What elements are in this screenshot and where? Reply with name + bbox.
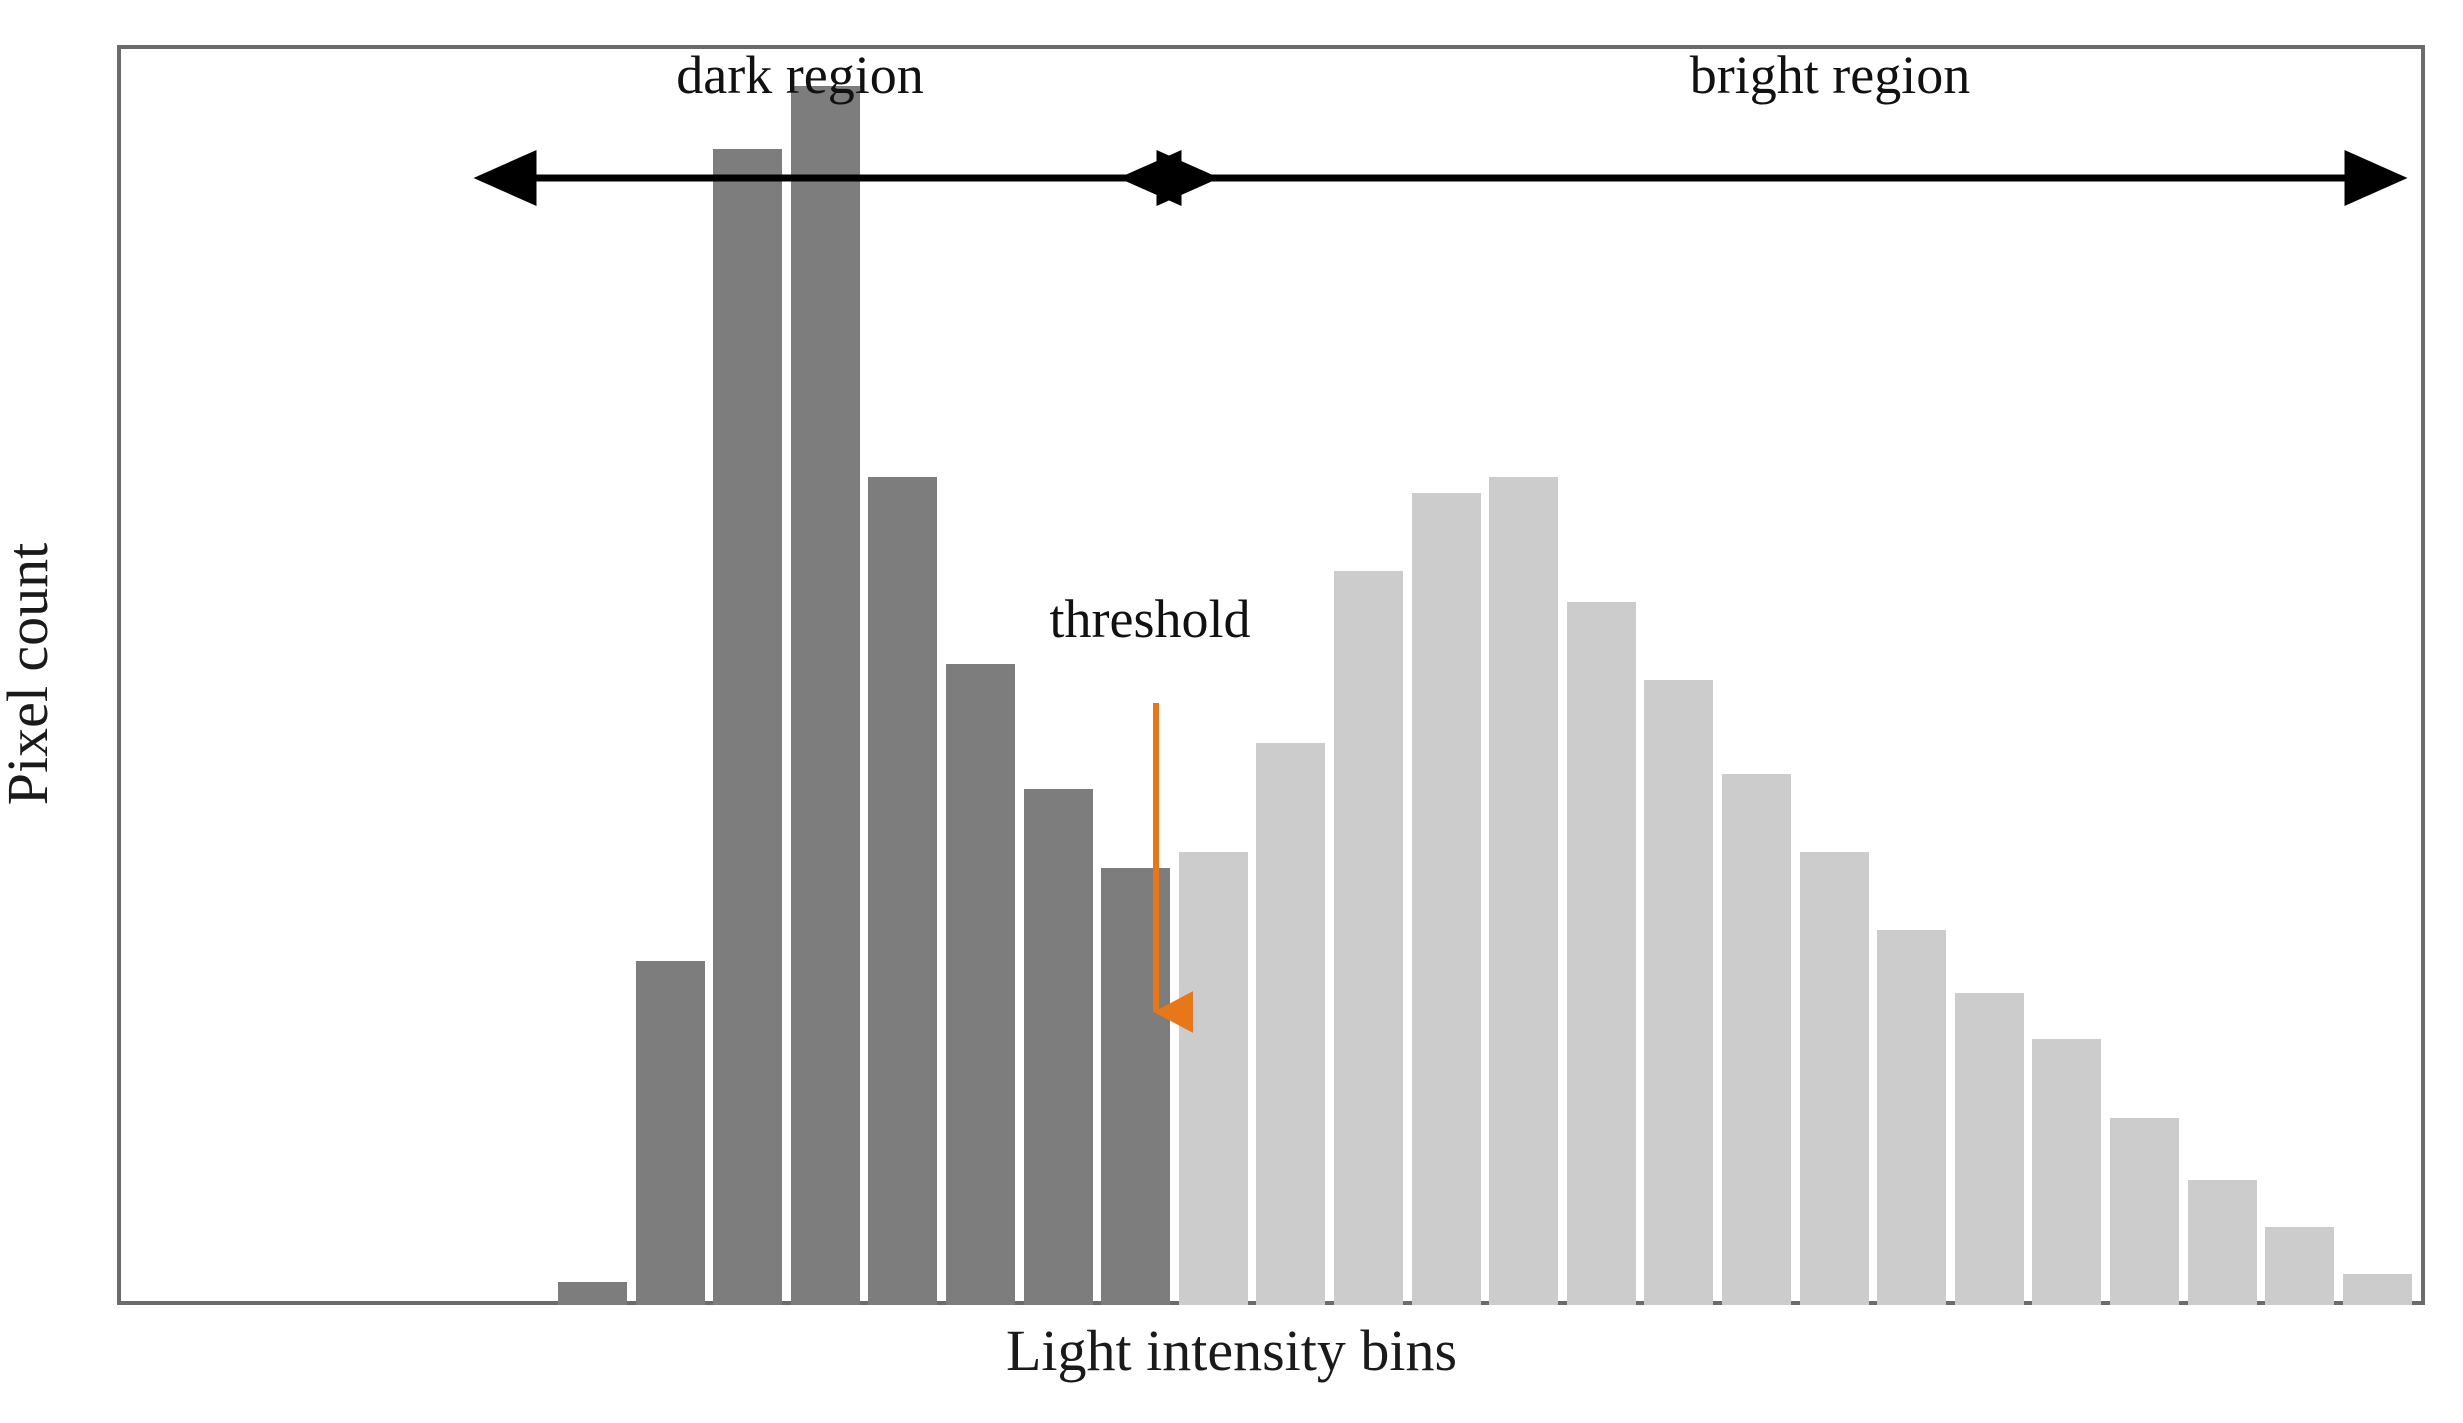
y-axis-title: Pixel count bbox=[0, 514, 57, 834]
histogram-figure: dark region bright region threshold Pixe… bbox=[0, 0, 2463, 1423]
threshold-label: threshold bbox=[900, 592, 1400, 646]
bright-region-label: bright region bbox=[1280, 48, 2380, 102]
dark-region-label: dark region bbox=[430, 48, 1170, 102]
x-axis-title: Light intensity bins bbox=[0, 1322, 2463, 1380]
plot-frame bbox=[117, 45, 2425, 1305]
